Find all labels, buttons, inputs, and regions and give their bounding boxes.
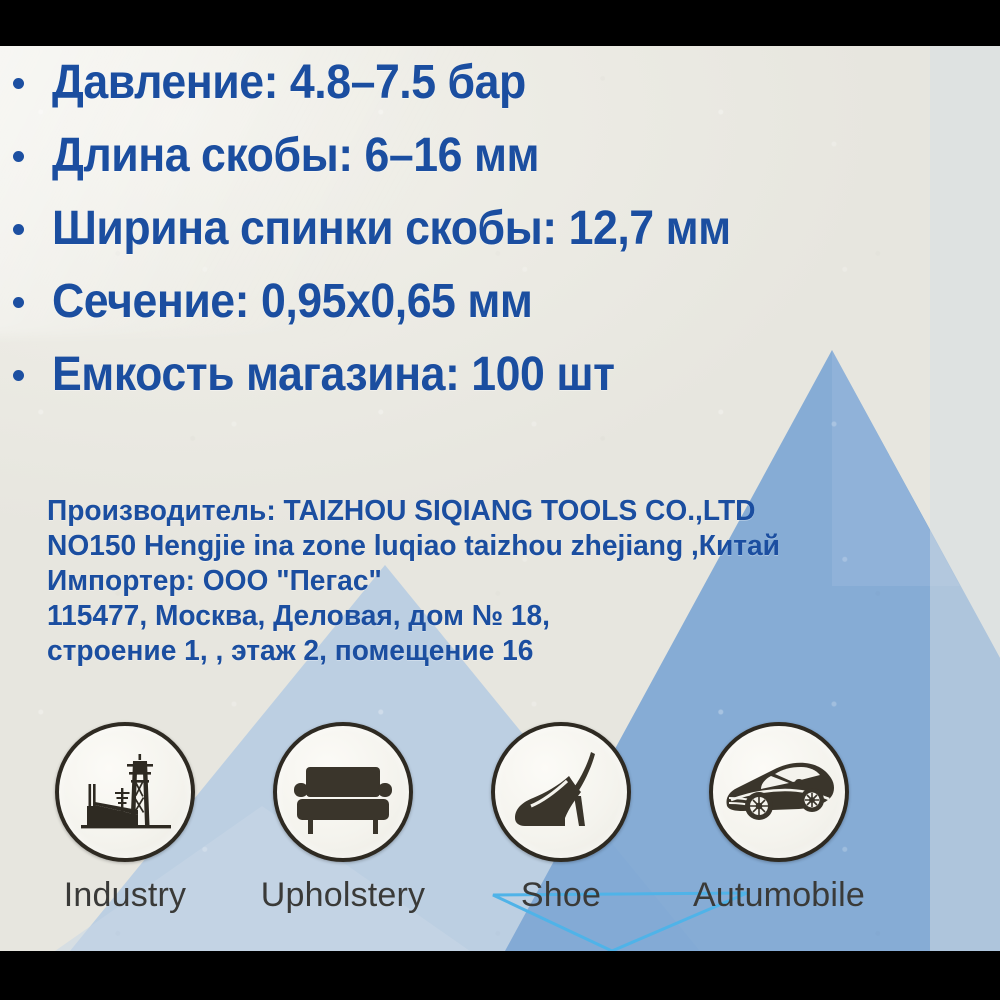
bullet-icon <box>13 151 24 162</box>
importer-address-line-1: 115477, Москва, Деловая, дом № 18, <box>47 599 920 634</box>
spec-row-staple-length: Длина скобы: 6–16 мм <box>0 119 1000 192</box>
spec-text-staple-length: Длина скобы: 6–16 мм <box>52 132 539 180</box>
application-label-upholstery: Upholstery <box>233 876 453 915</box>
application-icon-row: Industry <box>0 722 1000 952</box>
application-automobile: Autumobile <box>669 722 889 915</box>
spec-row-pressure: Давление: 4.8–7.5 бар <box>0 46 1000 119</box>
factory-power-tower-icon <box>59 726 191 858</box>
application-upholstery: Upholstery <box>233 722 453 915</box>
manufacturer-address-line: NO150 Hengjie ina zone luqiao taizhou zh… <box>47 529 920 564</box>
bullet-icon <box>13 224 24 235</box>
automobile-icon-circle <box>709 722 849 862</box>
sofa-icon <box>277 726 409 858</box>
manufacturer-line: Производитель: TAIZHOU SIQIANG TOOLS CO.… <box>47 494 920 529</box>
product-package-photo: Давление: 4.8–7.5 бар Длина скобы: 6–16 … <box>0 0 1000 1000</box>
spec-text-crown-width: Ширина спинки скобы: 12,7 мм <box>52 205 731 253</box>
importer-line: Импортер: ООО "Пегас" <box>47 564 920 599</box>
application-label-automobile: Autumobile <box>669 876 889 915</box>
spec-row-magazine-capacity: Емкость магазина: 100 шт <box>0 338 1000 411</box>
importer-address-line-2: строение 1, , этаж 2, помещение 16 <box>47 634 920 669</box>
letterbox-bar-top <box>0 0 1000 46</box>
bullet-icon <box>13 78 24 89</box>
shoe-icon-circle <box>491 722 631 862</box>
application-shoe: Shoe <box>451 722 671 915</box>
upholstery-icon-circle <box>273 722 413 862</box>
manufacturer-info-block: Производитель: TAIZHOU SIQIANG TOOLS CO.… <box>47 494 947 669</box>
application-industry: Industry <box>15 722 235 915</box>
spec-text-pressure: Давление: 4.8–7.5 бар <box>52 59 526 107</box>
industry-icon-circle <box>55 722 195 862</box>
bullet-icon <box>13 370 24 381</box>
application-label-shoe: Shoe <box>451 876 671 915</box>
spec-text-magazine-capacity: Емкость магазина: 100 шт <box>52 351 614 399</box>
spec-row-crown-width: Ширина спинки скобы: 12,7 мм <box>0 192 1000 265</box>
specification-list: Давление: 4.8–7.5 бар Длина скобы: 6–16 … <box>0 46 1000 411</box>
bullet-icon <box>13 297 24 308</box>
sports-car-icon <box>713 726 845 858</box>
spec-text-cross-section: Сечение: 0,95х0,65 мм <box>52 278 532 326</box>
letterbox-bar-bottom <box>0 951 1000 1000</box>
application-label-industry: Industry <box>15 876 235 915</box>
high-heel-shoe-icon <box>495 726 627 858</box>
spec-row-cross-section: Сечение: 0,95х0,65 мм <box>0 265 1000 338</box>
